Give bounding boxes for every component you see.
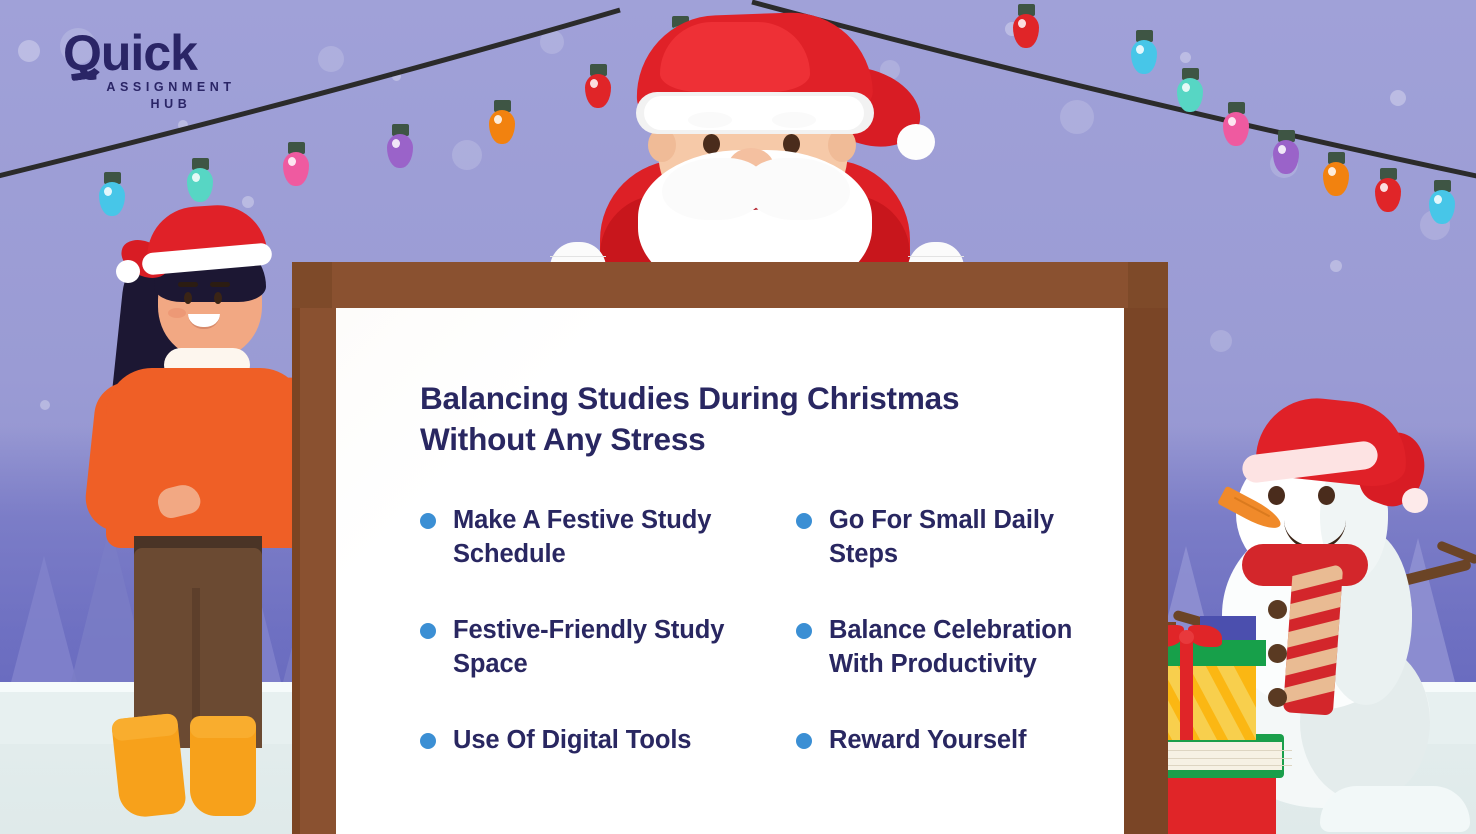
girl-sweater xyxy=(106,368,306,548)
list-item: Go For Small Daily Steps xyxy=(796,504,1120,572)
snowman-button-1 xyxy=(1268,600,1287,619)
girl-hat-pompom xyxy=(116,260,140,283)
girl-eye-left xyxy=(184,292,192,304)
bullet-icon xyxy=(420,733,436,749)
girl-eye-right xyxy=(214,292,222,304)
bullet-icon xyxy=(796,513,812,529)
page-title: Balancing Studies During Christmas Witho… xyxy=(420,378,1080,461)
santa-hat-pompom xyxy=(897,124,935,160)
bullet-icon xyxy=(420,623,436,639)
tips-column-left: Make A Festive Study Schedule Festive-Fr… xyxy=(420,504,750,758)
list-item: Make A Festive Study Schedule xyxy=(420,504,750,572)
board-panel: Balancing Studies During Christmas Witho… xyxy=(336,308,1124,834)
snowman-eye-left xyxy=(1268,486,1285,505)
snowman-hat-pompom xyxy=(1402,488,1428,513)
tips-column-right: Go For Small Daily Steps Balance Celebra… xyxy=(796,504,1120,758)
tips-columns: Make A Festive Study Schedule Festive-Fr… xyxy=(420,504,1120,758)
bullet-icon xyxy=(796,733,812,749)
bullet-icon xyxy=(420,513,436,529)
list-item: Use Of Digital Tools xyxy=(420,724,750,758)
snowman-eye-right xyxy=(1318,486,1335,505)
infographic-canvas: Quick ASSIGNMENT HUB xyxy=(0,0,1476,834)
girl-boot-right xyxy=(190,716,256,816)
santa-claus-figure xyxy=(540,0,970,300)
list-item: Balance Celebration With Productivity xyxy=(796,614,1120,682)
list-item: Reward Yourself xyxy=(796,724,1120,758)
signboard: Balancing Studies During Christmas Witho… xyxy=(292,262,1168,834)
bullet-icon xyxy=(796,623,812,639)
girl-boot-left xyxy=(111,713,187,819)
list-item: Festive-Friendly Study Space xyxy=(420,614,750,682)
